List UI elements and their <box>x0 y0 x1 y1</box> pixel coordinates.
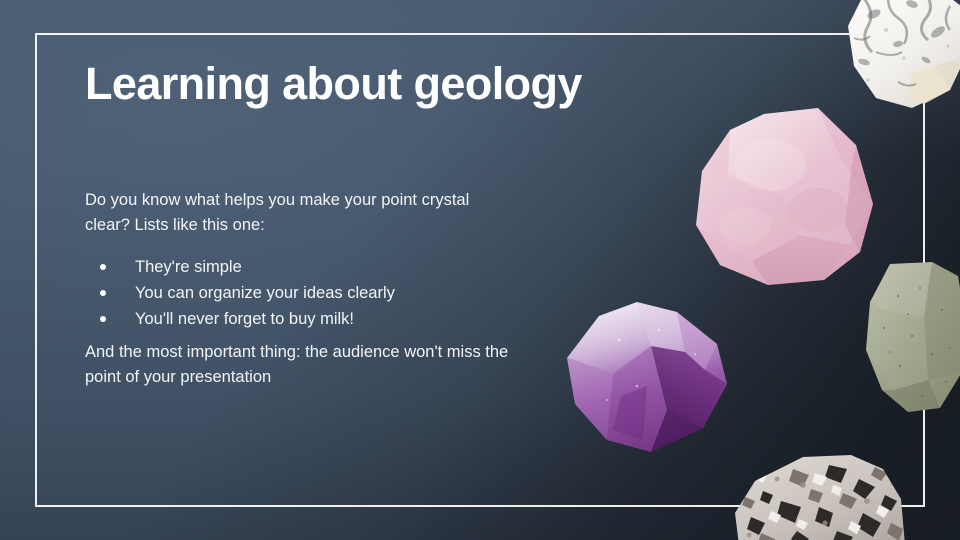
list-item: You'll never forget to buy milk! <box>85 306 485 332</box>
list-item-label: You'll never forget to buy milk! <box>135 310 354 328</box>
bullet-list: They're simple You can organize your ide… <box>85 254 485 332</box>
list-item-label: They're simple <box>135 258 242 276</box>
bullet-dot-icon <box>100 316 106 322</box>
closing-paragraph: And the most important thing: the audien… <box>85 340 515 390</box>
list-item: You can organize your ideas clearly <box>85 280 485 306</box>
slide-content: Learning about geology Do you know what … <box>85 0 555 540</box>
bullet-dot-icon <box>100 290 106 296</box>
list-item-label: You can organize your ideas clearly <box>135 284 395 302</box>
intro-paragraph: Do you know what helps you make your poi… <box>85 188 485 238</box>
presentation-slide: Learning about geology Do you know what … <box>0 0 960 540</box>
bullet-dot-icon <box>100 264 106 270</box>
page-title: Learning about geology <box>85 58 582 110</box>
list-item: They're simple <box>85 254 485 280</box>
